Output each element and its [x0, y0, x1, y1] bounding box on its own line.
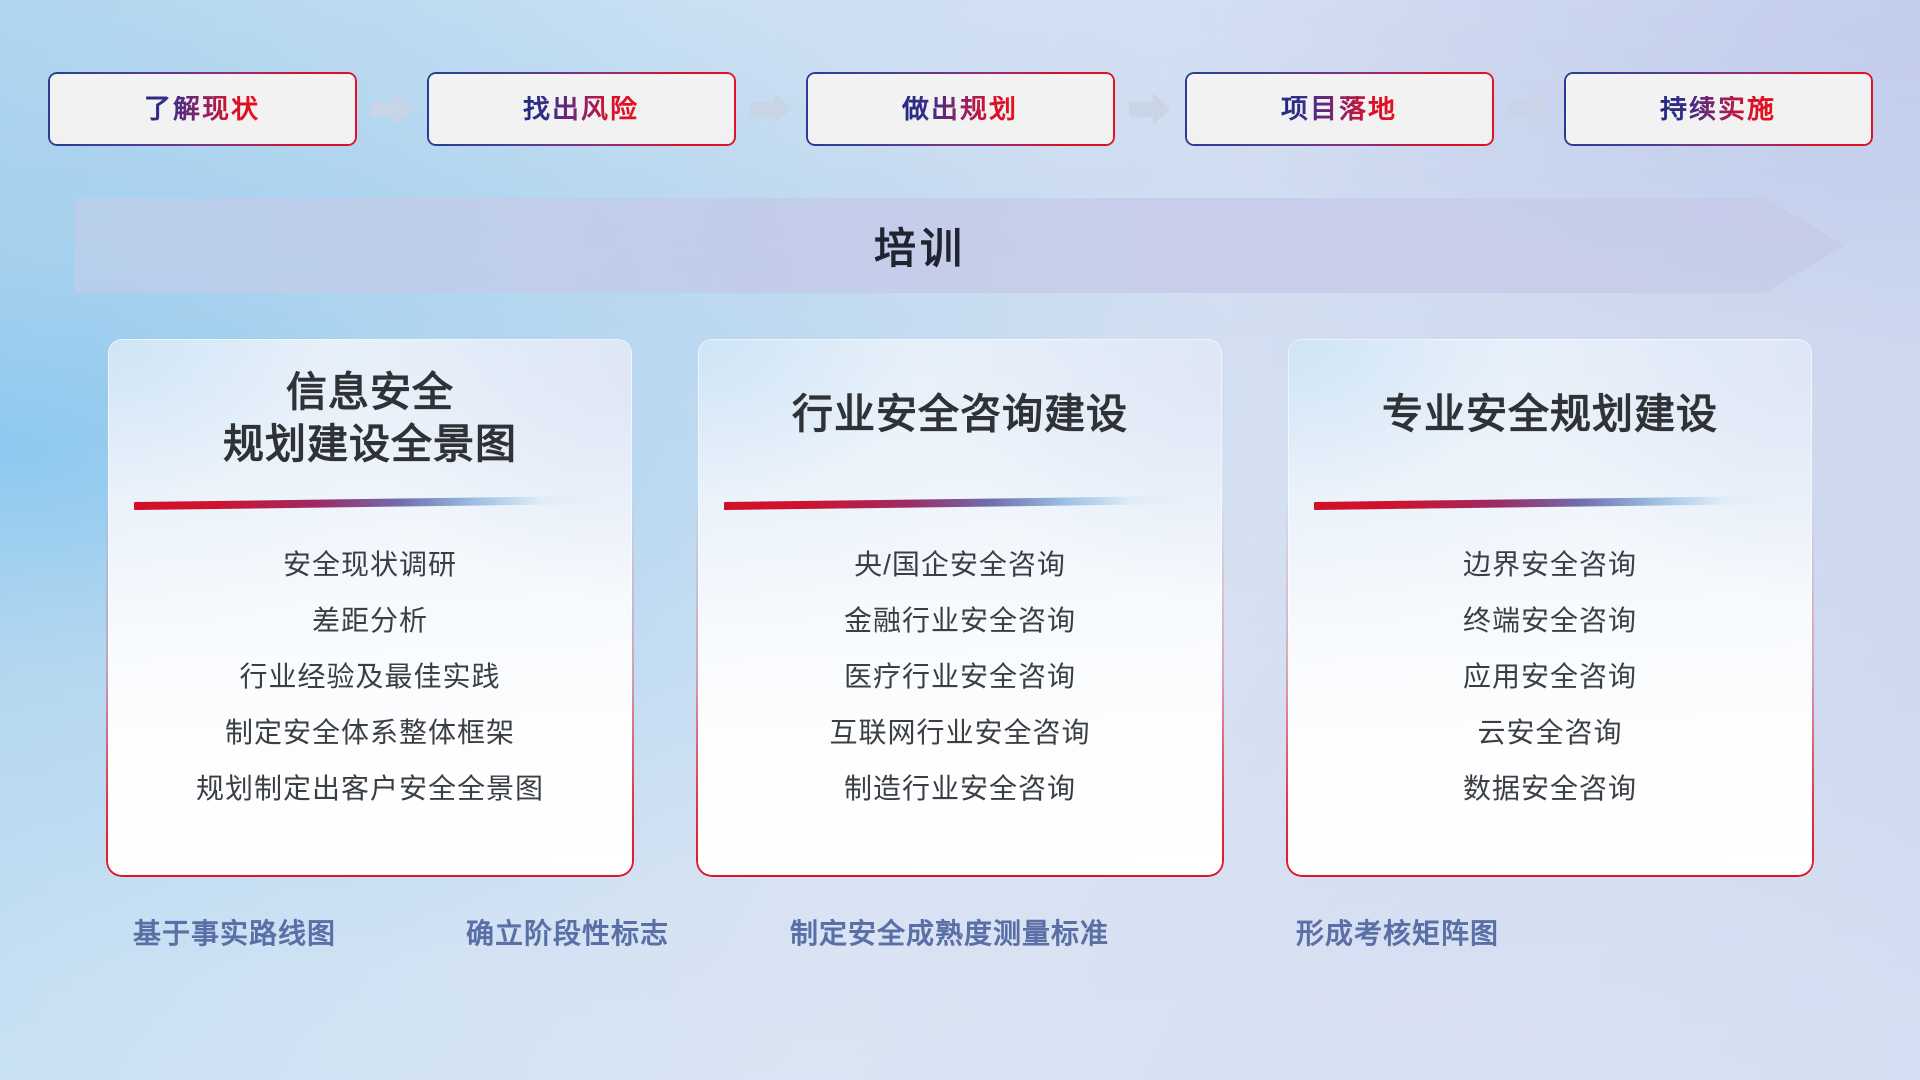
- process-step-0[interactable]: 了解现状: [48, 72, 357, 146]
- card-info-security-panorama[interactable]: 信息安全 规划建设全景图 安全现状调研 差距分析 行业经验及最佳实践 制定安全体…: [106, 337, 634, 877]
- list-item: 金融行业安全咨询: [844, 593, 1076, 649]
- card-professional-security-planning[interactable]: 专业安全规划建设 边界安全咨询 终端安全咨询 应用安全咨询 云安全咨询 数据安全…: [1286, 337, 1814, 877]
- process-step-inner: 持续实施: [1566, 74, 1871, 144]
- footer-label-0: 基于事实路线图: [133, 912, 336, 952]
- card-divider: [134, 499, 596, 511]
- card-title-line: 行业安全咨询建设: [792, 388, 1128, 440]
- list-item: 行业经验及最佳实践: [239, 649, 500, 705]
- card-title-line: 规划建设全景图: [223, 418, 517, 470]
- process-step-label: 找出风险: [523, 96, 639, 123]
- list-item: 终端安全咨询: [1463, 593, 1637, 649]
- footer-label-row: 基于事实路线图 确立阶段性标志 制定安全成熟度测量标准 形成考核矩阵图: [0, 912, 1920, 962]
- footer-label-1: 确立阶段性标志: [466, 912, 669, 952]
- footer-label-3: 形成考核矩阵图: [1296, 912, 1499, 952]
- list-item: 云安全咨询: [1477, 705, 1622, 761]
- list-item: 应用安全咨询: [1463, 649, 1637, 705]
- process-step-2[interactable]: 做出规划: [806, 72, 1115, 146]
- list-item: 制定安全体系整体框架: [225, 705, 515, 761]
- list-item: 边界安全咨询: [1463, 537, 1637, 593]
- process-step-row: 了解现状 找出风险 做出规划 项目落地 持续实施: [0, 70, 1920, 148]
- right-arrow-icon: [1115, 72, 1185, 146]
- list-item: 数据安全咨询: [1463, 761, 1637, 817]
- card-divider: [1314, 499, 1776, 511]
- process-step-1[interactable]: 找出风险: [427, 72, 736, 146]
- list-item: 安全现状调研: [283, 537, 457, 593]
- process-step-inner: 做出规划: [808, 74, 1113, 144]
- training-banner: 培训: [75, 198, 1845, 293]
- card-row: 信息安全 规划建设全景图 安全现状调研 差距分析 行业经验及最佳实践 制定安全体…: [0, 337, 1920, 877]
- process-step-label: 项目落地: [1281, 96, 1397, 123]
- card-item-list: 央/国企安全咨询 金融行业安全咨询 医疗行业安全咨询 互联网行业安全咨询 制造行…: [696, 537, 1224, 817]
- card-title: 行业安全咨询建设: [696, 337, 1224, 491]
- process-step-3[interactable]: 项目落地: [1185, 72, 1494, 146]
- footer-label-2: 制定安全成熟度测量标准: [790, 912, 1109, 952]
- process-step-inner: 了解现状: [50, 74, 355, 144]
- list-item: 医疗行业安全咨询: [844, 649, 1076, 705]
- list-item: 规划制定出客户安全全景图: [196, 761, 544, 817]
- process-step-4[interactable]: 持续实施: [1564, 72, 1873, 146]
- process-step-label: 持续实施: [1660, 96, 1776, 123]
- list-item: 差距分析: [312, 593, 428, 649]
- process-step-inner: 找出风险: [429, 74, 734, 144]
- card-title: 信息安全 规划建设全景图: [106, 337, 634, 495]
- list-item: 央/国企安全咨询: [854, 537, 1066, 593]
- right-arrow-icon: [1494, 72, 1564, 146]
- card-item-list: 安全现状调研 差距分析 行业经验及最佳实践 制定安全体系整体框架 规划制定出客户…: [106, 537, 634, 817]
- card-title: 专业安全规划建设: [1286, 337, 1814, 491]
- process-step-label: 做出规划: [902, 96, 1018, 123]
- list-item: 制造行业安全咨询: [844, 761, 1076, 817]
- card-title-line: 专业安全规划建设: [1382, 388, 1718, 440]
- card-title-line: 信息安全: [286, 366, 454, 418]
- process-step-inner: 项目落地: [1187, 74, 1492, 144]
- card-item-list: 边界安全咨询 终端安全咨询 应用安全咨询 云安全咨询 数据安全咨询: [1286, 537, 1814, 817]
- right-arrow-icon: [357, 72, 427, 146]
- card-industry-security-consulting[interactable]: 行业安全咨询建设 央/国企安全咨询 金融行业安全咨询 医疗行业安全咨询 互联网行…: [696, 337, 1224, 877]
- right-arrow-icon: [736, 72, 806, 146]
- card-divider: [724, 499, 1186, 511]
- training-banner-title: 培训: [75, 198, 1765, 293]
- process-step-label: 了解现状: [144, 96, 260, 123]
- list-item: 互联网行业安全咨询: [829, 705, 1090, 761]
